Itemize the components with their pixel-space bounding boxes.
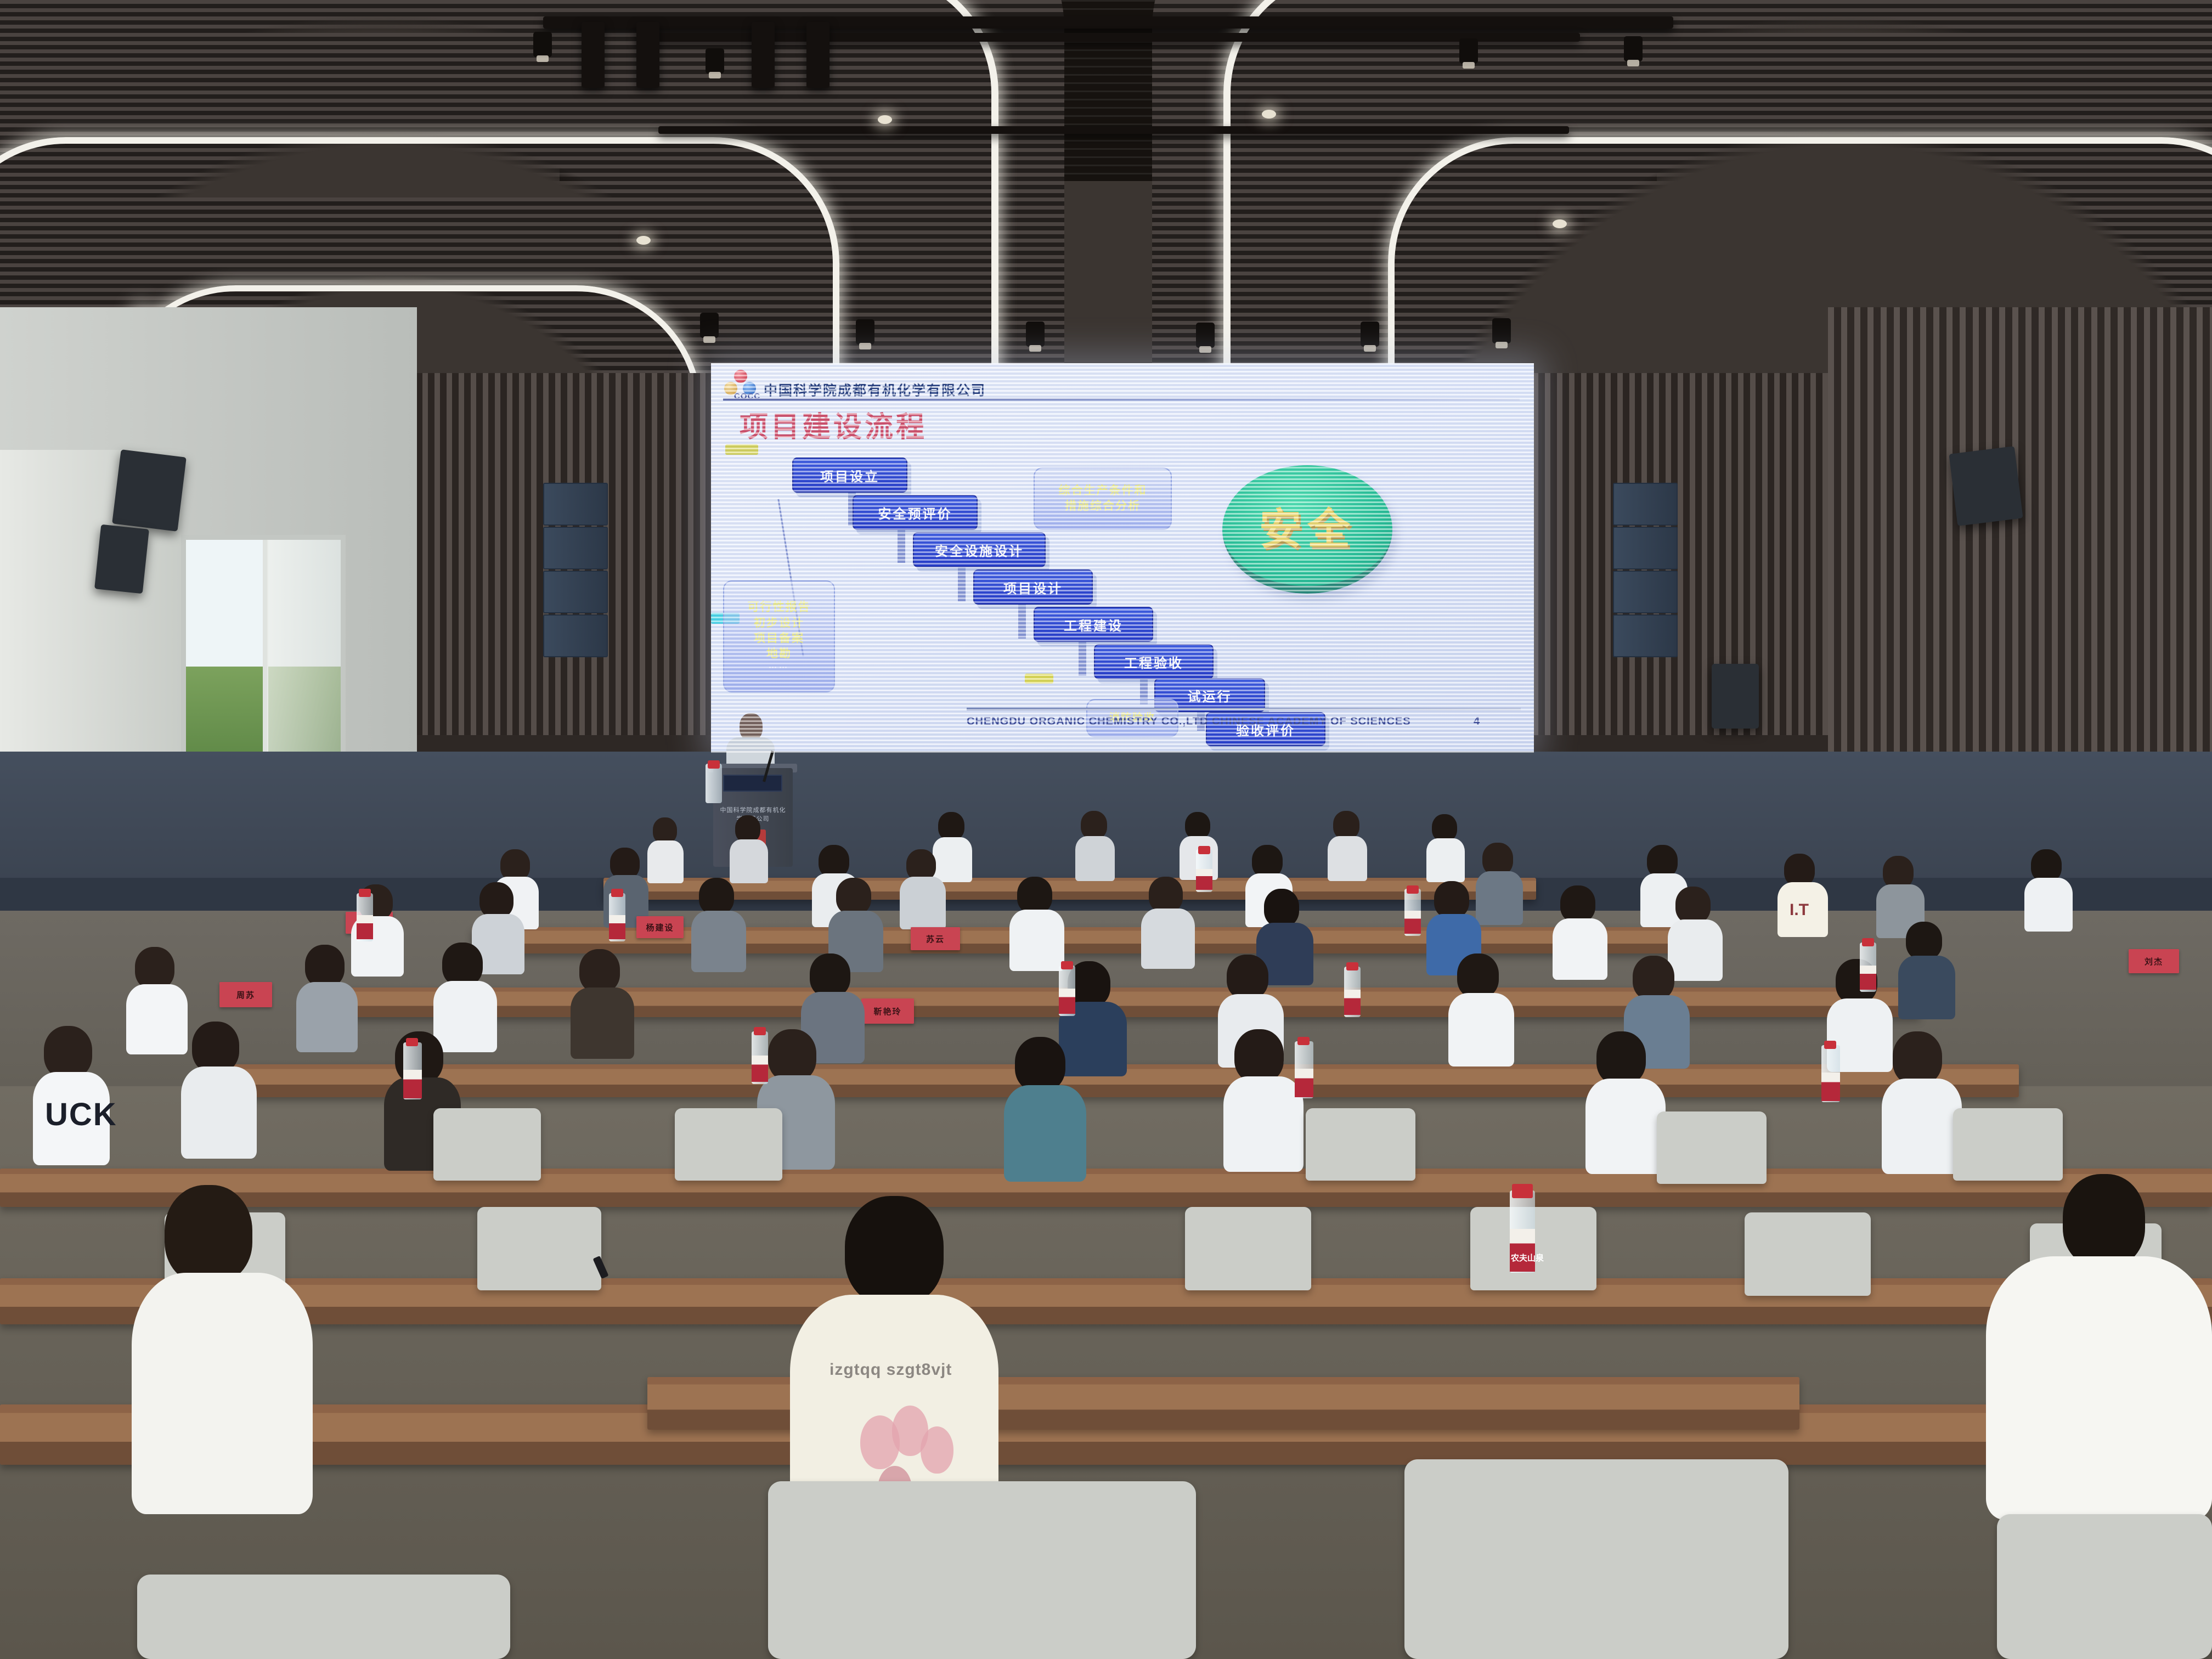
bottle-label-7 — [1059, 989, 1075, 1014]
flow-box-5[interactable]: 工程建设 — [1034, 607, 1153, 642]
stage-spotlight-8 — [1196, 323, 1215, 348]
flow-box-2[interactable]: 安全预评价 — [853, 495, 978, 530]
bottle-cap-11 — [1824, 1041, 1836, 1049]
desk-row-2 — [0, 1278, 2212, 1324]
bottle-label-9 — [403, 1070, 422, 1098]
slide-page-number: 4 — [1474, 715, 1480, 728]
slide-footer-rule — [967, 708, 1521, 710]
bottle-cap-5 — [1862, 938, 1874, 946]
slide-accent-bar-yellow-2 — [1025, 674, 1053, 684]
ceiling-downlight-1 — [878, 115, 892, 124]
callout-left-line-1: 可行性报告 — [748, 600, 811, 615]
chair-r3-4[interactable] — [1657, 1111, 1767, 1184]
stage-spotlight-6 — [856, 319, 874, 345]
chair-r2-5[interactable] — [1745, 1212, 1871, 1296]
presentation-slide: COCC 中国科学院成都有机化学有限公司 项目建设流程 项目设立 安全预评价 安… — [711, 363, 1534, 753]
slide-footer-text: CHENGDU ORGANIC CHEMISTRY CO.,LTD CHINES… — [967, 715, 1411, 728]
connector-4 — [1018, 605, 1026, 639]
bottle-cap-9 — [406, 1038, 418, 1046]
bottle-label-3 — [1196, 869, 1212, 890]
name-placard-4: 刘杰 — [2129, 949, 2179, 973]
lighting-truss-1 — [543, 16, 1673, 29]
shirt-graphic-it: I.T — [1790, 901, 1809, 919]
bottle-brand-label: 农夫山泉 — [1511, 1252, 1544, 1263]
connector-2 — [898, 528, 905, 563]
stage-spotlight-4 — [1624, 36, 1643, 61]
stage-spotlight-3 — [1459, 38, 1478, 64]
bottle-cap-3 — [1198, 846, 1210, 854]
bottle-cap-7 — [1061, 961, 1073, 969]
ceiling-downlight-3 — [1553, 219, 1567, 228]
slide-title: 项目建设流程 — [740, 404, 927, 445]
podium-bottle — [706, 764, 722, 803]
chair-front-right[interactable] — [1404, 1459, 1788, 1659]
callout-left-line-2: 初步设计 — [754, 616, 804, 631]
flow-box-3[interactable]: 安全设施设计 — [913, 532, 1046, 567]
bottle-cap-6 — [754, 1027, 766, 1035]
bottle-label-8 — [1344, 990, 1361, 1015]
ceiling-downlight-4 — [636, 236, 651, 245]
stage-spotlight-2 — [706, 48, 724, 74]
connector-3 — [958, 567, 966, 601]
bottle-cap-4 — [1407, 885, 1419, 894]
stage-spotlight-5 — [700, 313, 719, 338]
bottle-cap-8 — [1346, 962, 1358, 970]
bottle-cap-1 — [359, 889, 371, 897]
podium-monitor — [723, 775, 782, 792]
safety-badge: 安全 — [1222, 465, 1392, 594]
chair-r2-3[interactable] — [1185, 1207, 1311, 1290]
lighting-truss-3 — [658, 126, 1569, 134]
podium-bottle-cap — [708, 760, 720, 769]
chair-front-left[interactable] — [137, 1575, 510, 1659]
shirt-graphic-script: izgtqq szgt8vjt — [830, 1361, 952, 1379]
bottle-label-10 — [1295, 1069, 1313, 1097]
callout-left-line-4: 地勘 — [766, 646, 792, 662]
flow-box-6[interactable]: 工程验收 — [1094, 644, 1214, 679]
safety-badge-label: 安全 — [1259, 495, 1356, 556]
chair-r2-2[interactable] — [477, 1207, 601, 1290]
flow-box-1[interactable]: 项目设立 — [792, 458, 907, 493]
bottle-label-1 — [357, 915, 373, 939]
chair-r3-3[interactable] — [1306, 1108, 1415, 1181]
stage-spotlight-1 — [533, 32, 552, 57]
stage-spotlight-10 — [1492, 318, 1511, 343]
shirt-graphic-uck: UCK — [45, 1096, 117, 1133]
truss-drop-4 — [806, 22, 830, 88]
slide-company-name: 中国科学院成都有机化学有限公司 — [764, 380, 986, 399]
bottle-label-4 — [1404, 911, 1421, 934]
callout-right-line-2: 措施综合分析 — [1065, 499, 1141, 514]
flow-box-4[interactable]: 项目设计 — [973, 569, 1093, 605]
bottle-label-2 — [609, 915, 625, 939]
desk-row-3 — [0, 1169, 2212, 1207]
stage-spotlight-7 — [1026, 321, 1045, 347]
bottle-cap-10 — [1297, 1037, 1310, 1045]
chair-r3-5[interactable] — [1953, 1108, 2063, 1181]
slide-header-rule — [723, 398, 1520, 400]
bottle-cap-foreground — [1512, 1184, 1533, 1198]
chair-front-far-right[interactable] — [1997, 1514, 2212, 1659]
chair-r3-1[interactable] — [433, 1108, 541, 1181]
presenter-head — [740, 713, 763, 741]
bottle-label-6 — [752, 1056, 768, 1082]
name-placard-6: 靳艳玲 — [861, 998, 914, 1024]
callout-right: 综合生产条件和 措施综合分析 — [1034, 467, 1172, 530]
callout-right-line-1: 综合生产条件和 — [1059, 483, 1147, 499]
bottle-label-11 — [1821, 1073, 1840, 1101]
name-placard-3: 苏云 — [911, 927, 960, 950]
bottle-label-5 — [1860, 966, 1876, 990]
connector-5 — [1079, 642, 1086, 676]
stage-spotlight-9 — [1361, 321, 1379, 347]
bottle-label-foreground — [1510, 1229, 1535, 1272]
auditorium-scene: COCC 中国科学院成都有机化学有限公司 项目建设流程 项目设立 安全预评价 安… — [0, 0, 2212, 1659]
truss-drop-2 — [636, 22, 659, 88]
wall-speaker-right — [1949, 446, 2023, 526]
projection-screen: COCC 中国科学院成都有机化学有限公司 项目建设流程 项目设立 安全预评价 安… — [711, 363, 1534, 753]
chair-front-center[interactable] — [768, 1481, 1196, 1659]
side-speaker-right — [1712, 664, 1759, 729]
ceiling-downlight-2 — [1262, 110, 1276, 119]
wall-speaker-left-lower — [94, 524, 149, 594]
callout-left: 可行性报告 初步设计 项目备案 地勘 ⋯⋯ — [723, 580, 835, 692]
cocc-logo-icon: COCC — [724, 370, 759, 400]
truss-drop-1 — [582, 22, 605, 88]
bottle-cap-2 — [611, 889, 623, 897]
wall-speaker-left — [112, 449, 187, 532]
callout-left-line-5: ⋯⋯ — [769, 662, 789, 673]
lighting-truss-2 — [636, 33, 1580, 42]
name-placard-5: 周苏 — [219, 982, 272, 1007]
callout-left-line-3: 项目备案 — [754, 631, 804, 646]
name-placard-2: 杨建设 — [636, 916, 684, 938]
truss-drop-3 — [752, 22, 775, 88]
chair-r3-2[interactable] — [675, 1108, 782, 1181]
slide-accent-bar-yellow — [725, 444, 758, 455]
